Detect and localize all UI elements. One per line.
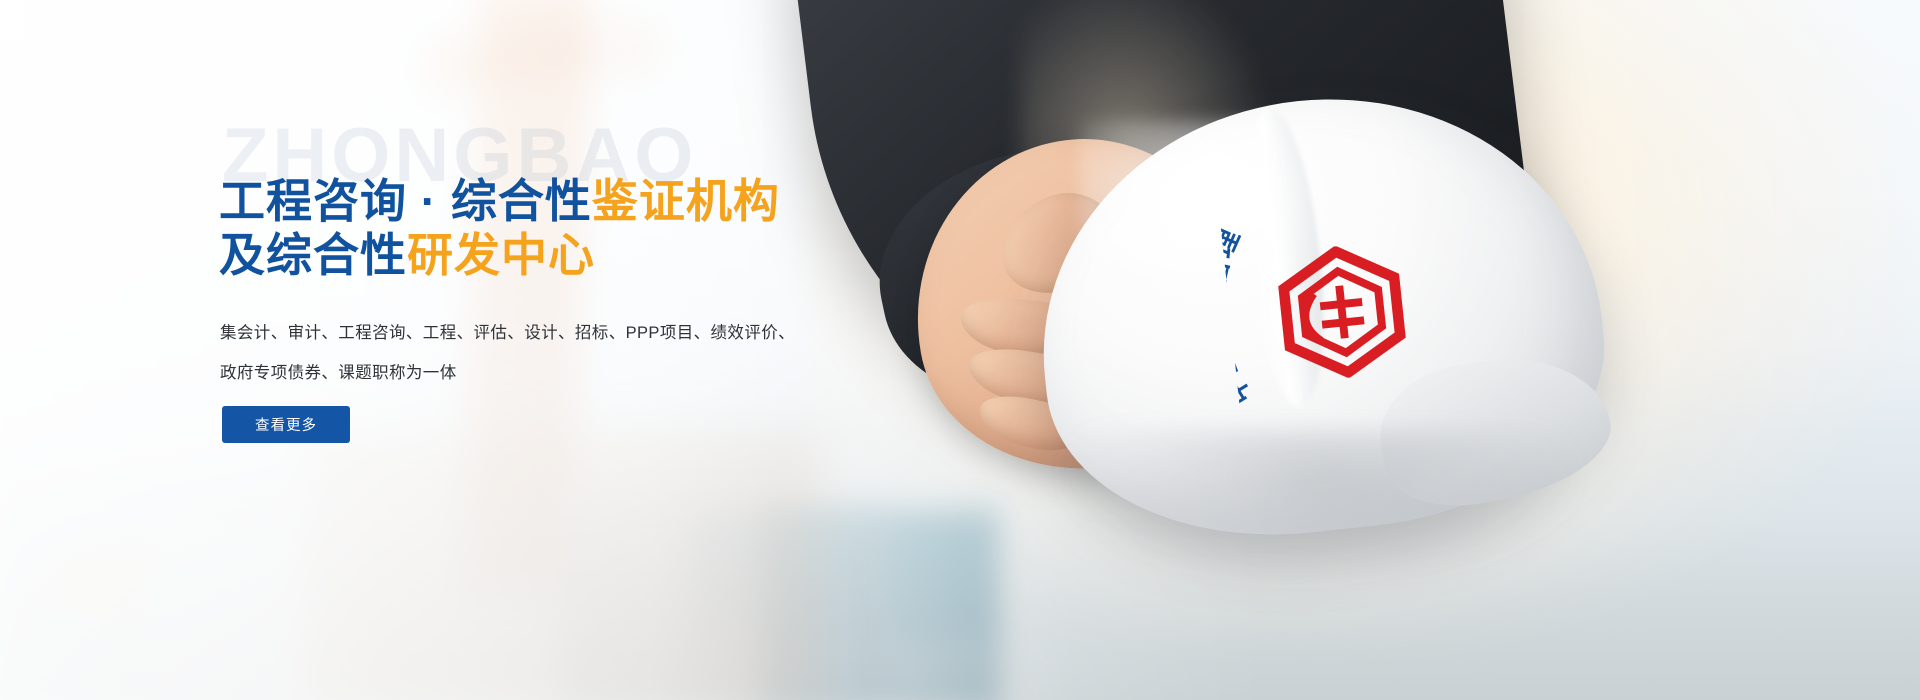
- hero-content: ZHONGBAO 工程咨询 · 综合性鉴证机构 及综合性研发中心 集会计、审计、…: [0, 0, 1920, 700]
- headline-line-2: 及综合性研发中心: [219, 228, 780, 282]
- headline-line-1-blue: 工程咨询 · 综合性: [219, 175, 592, 227]
- headline-line-1-orange: 鉴证机构: [592, 175, 780, 227]
- hero-banner: 中宝工程管理 ZHONGBAO 工程咨询 · 综合性鉴证机构 及综合性研发中心 …: [0, 0, 1920, 700]
- hero-subtitle: 集会计、审计、工程咨询、工程、评估、设计、招标、PPP项目、绩效评价、 政府专项…: [220, 313, 830, 394]
- headline-line-2-blue: 及综合性: [219, 229, 407, 281]
- subtitle-line-1: 集会计、审计、工程咨询、工程、评估、设计、招标、PPP项目、绩效评价、: [220, 313, 830, 353]
- headline-line-2-orange: 研发中心: [407, 229, 595, 281]
- subtitle-line-2: 政府专项债券、课题职称为一体: [220, 353, 830, 393]
- view-more-button[interactable]: 查看更多: [222, 406, 350, 443]
- hero-headline: 工程咨询 · 综合性鉴证机构 及综合性研发中心: [219, 174, 780, 283]
- headline-line-1: 工程咨询 · 综合性鉴证机构: [219, 174, 780, 228]
